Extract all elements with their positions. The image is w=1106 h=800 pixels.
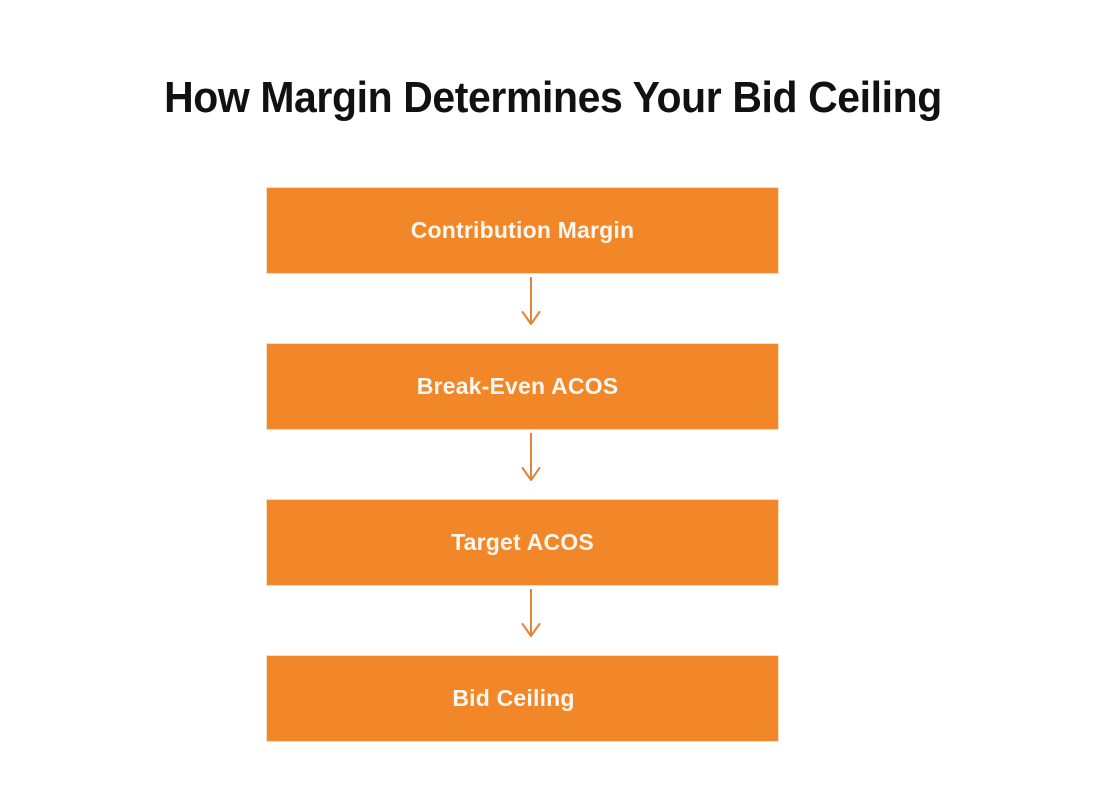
flow-connector-2 <box>266 430 779 499</box>
flow-node-label: Break-Even ACOS <box>417 375 619 398</box>
page-title: How Margin Determines Your Bid Ceiling <box>39 74 1068 122</box>
flow-connector-3 <box>266 586 779 655</box>
flowchart: Contribution Margin Break-Even ACOS <box>266 187 779 742</box>
flow-node-label: Contribution Margin <box>411 219 635 242</box>
flow-node-break-even-acos[interactable]: Break-Even ACOS <box>266 343 779 430</box>
flow-node-contribution-margin[interactable]: Contribution Margin <box>266 187 779 274</box>
down-arrow-icon <box>518 274 520 343</box>
flow-node-label: Bid Ceiling <box>452 687 574 710</box>
down-arrow-icon <box>518 430 520 499</box>
diagram-canvas: How Margin Determines Your Bid Ceiling C… <box>0 0 1106 800</box>
down-arrow-icon <box>518 586 520 655</box>
flow-connector-1 <box>266 274 779 343</box>
flow-node-label: Target ACOS <box>451 531 594 554</box>
flow-node-bid-ceiling[interactable]: Bid Ceiling <box>266 655 779 742</box>
flow-node-target-acos[interactable]: Target ACOS <box>266 499 779 586</box>
